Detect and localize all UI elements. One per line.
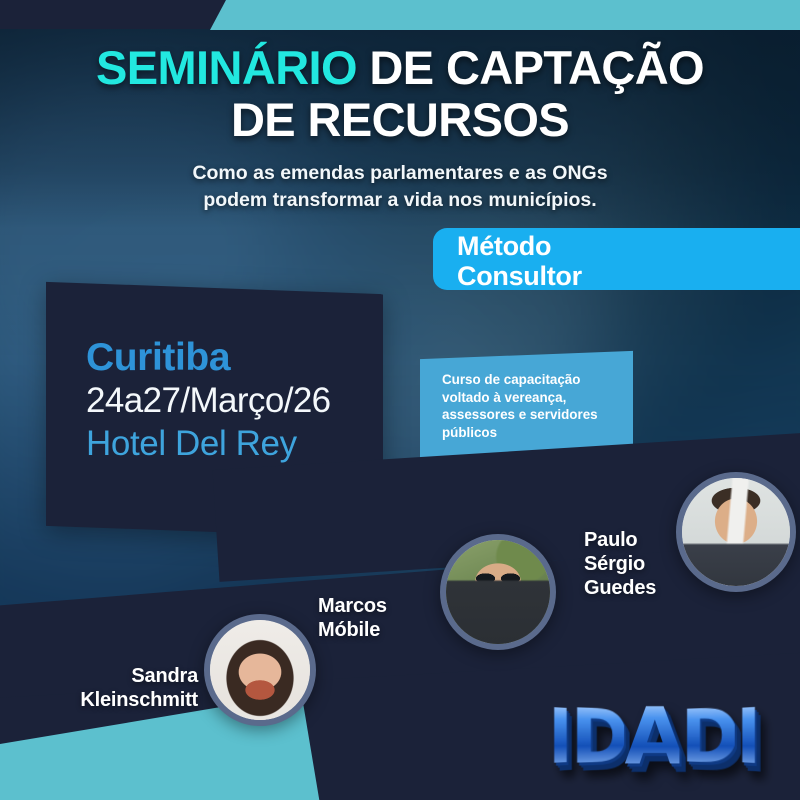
speaker-marcos-last: Móbile <box>318 619 380 641</box>
speaker-paulo-first: Paulo <box>584 529 637 551</box>
event-date: 24a27/Março/26 <box>86 380 383 422</box>
speaker-name-sandra-kleinschmitt: Sandra Kleinschmitt <box>64 664 198 712</box>
subtitle-line-1: Como as emendas parlamentares e as ONGs <box>192 162 607 184</box>
avatar-marcos-mobile <box>440 534 556 650</box>
course-line-4: públicos <box>442 425 497 440</box>
speaker-marcos-first: Marcos <box>318 595 387 617</box>
avatar-paulo-sergio-guedes <box>676 472 796 592</box>
speaker-paulo-middle: Sérgio <box>584 553 645 575</box>
portrait-image-marcos <box>446 540 550 644</box>
method-badge-line-2: Consultor <box>457 261 800 291</box>
page-subtitle: Como as emendas parlamentares e as ONGs … <box>0 160 800 214</box>
title-line1-rest: DE CAPTAÇÃO <box>357 41 704 94</box>
logo-letter-5: I <box>736 699 756 776</box>
event-city: Curitiba <box>86 336 383 380</box>
title-highlight-word: SEMINÁRIO <box>96 41 357 94</box>
event-venue: Hotel Del Rey <box>86 422 383 466</box>
speaker-name-marcos-mobile: Marcos Móbile <box>318 594 436 642</box>
speaker-name-paulo-sergio-guedes: Paulo Sérgio Guedes <box>584 528 680 600</box>
course-line-1: Curso de capacitação <box>442 372 580 387</box>
logo-letter-4: D <box>681 699 735 775</box>
course-description-box: Curso de capacitação voltado à vereança,… <box>420 351 633 459</box>
page-title: SEMINÁRIO DE CAPTAÇÃO DE RECURSOS <box>0 42 800 146</box>
event-poster: SEMINÁRIO DE CAPTAÇÃO DE RECURSOS Como a… <box>0 0 800 800</box>
speaker-sandra-last: Kleinschmitt <box>80 689 198 711</box>
portrait-image-sandra <box>210 620 310 720</box>
logo-letter-3: A <box>625 698 680 776</box>
method-badge-line-1: Método <box>457 231 800 261</box>
idadi-logo: I D A D I <box>540 678 765 774</box>
logo-letter-1: I <box>548 699 568 776</box>
title-line2: DE RECURSOS <box>231 93 569 146</box>
logo-letter-2: D <box>570 699 624 775</box>
avatar-sandra-kleinschmitt <box>204 614 316 726</box>
portrait-image-paulo <box>682 478 790 586</box>
course-line-2: voltado à vereança, <box>442 390 566 405</box>
speaker-paulo-last: Guedes <box>584 577 656 599</box>
method-badge: Método Consultor <box>433 228 800 290</box>
speaker-sandra-first: Sandra <box>131 665 198 687</box>
subtitle-line-2: podem transformar a vida nos municípios. <box>203 189 596 211</box>
course-line-3: assessores e servidores <box>442 407 598 422</box>
